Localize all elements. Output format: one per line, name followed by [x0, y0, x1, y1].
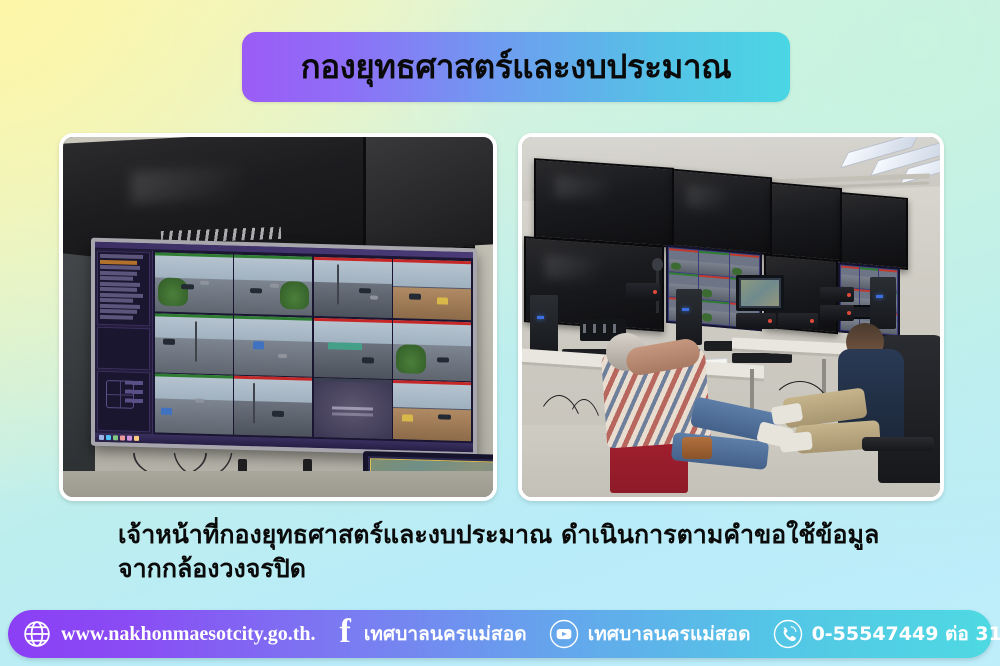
caption-line-2: จากกล้องวงจรปิด: [118, 552, 948, 586]
camera-list-tree: [97, 251, 150, 326]
operator-map-monitor: [736, 275, 784, 311]
youtube-label: เทศบาลนครแม่สอด: [588, 619, 751, 649]
globe-icon: [22, 619, 52, 649]
camera-tile-no-signal: [314, 378, 392, 439]
chair-base: [862, 437, 934, 451]
person-2-shoe: [779, 431, 813, 452]
video-wall-screen: [840, 192, 908, 270]
desktop-pc-tower: [676, 289, 702, 345]
video-wall-screen: [672, 169, 772, 256]
ptz-control-panel: [97, 371, 150, 432]
title-banner: กองยุทธศาสตร์และงบประมาณ: [242, 32, 790, 102]
wall-tv-dark-secondary: [363, 137, 493, 251]
camera-tile: [234, 315, 312, 376]
contact-footer-bar: www.nakhonmaesotcity.go.th. f เทศบาลนครแ…: [8, 610, 992, 658]
youtube-icon: [549, 619, 579, 649]
camera-tile: [155, 373, 233, 434]
facebook-icon: f: [337, 618, 354, 649]
keyboard: [732, 353, 792, 363]
footer-phone[interactable]: 0-55547449 ต่อ 314: [773, 619, 1000, 649]
group-panel: [97, 327, 150, 370]
caption-line-1: เจ้าหน้าที่กองยุทธศาสตร์และงบประมาณ ดำเน…: [118, 518, 948, 552]
video-wall-screen: [534, 158, 674, 248]
facebook-label: เทศบาลนครแม่สอด: [364, 619, 527, 649]
camera-tile: [234, 255, 312, 316]
camera-tile: [314, 317, 392, 378]
photo-cctv-control-room: [59, 133, 497, 501]
camera-tile: [155, 313, 233, 374]
rack-equipment: [820, 305, 854, 321]
camera-tile: [314, 257, 392, 318]
camera-tile: [393, 320, 471, 381]
website-label: www.nakhonmaesotcity.go.th.: [61, 623, 315, 646]
rack-equipment: [736, 313, 776, 329]
camera-tile: [393, 259, 471, 320]
desktop-pc-tower: [530, 295, 558, 357]
camera-tile: [234, 376, 312, 437]
cctv-camera-grid: [153, 250, 473, 443]
camera-tile: [155, 252, 233, 313]
camera-sidebar: [95, 249, 153, 435]
caption-block: เจ้าหน้าที่กองยุทธศาสตร์และงบประมาณ ดำเน…: [118, 518, 948, 586]
rack-equipment: [626, 283, 660, 301]
footer-website[interactable]: www.nakhonmaesotcity.go.th.: [22, 619, 315, 649]
floor: [63, 471, 493, 497]
page-title: กองยุทธศาสตร์และงบประมาณ: [301, 50, 732, 85]
person-1-bag: [682, 437, 712, 459]
photo-gallery: [59, 133, 944, 501]
phone-label: 0-55547449 ต่อ 314: [812, 619, 1000, 649]
camera-tile: [393, 380, 471, 441]
rack-equipment: [820, 287, 854, 302]
footer-youtube[interactable]: เทศบาลนครแม่สอด: [549, 619, 751, 649]
footer-facebook[interactable]: f เทศบาลนครแม่สอด: [337, 618, 526, 649]
small-black-box: [852, 305, 872, 319]
rack-equipment: [778, 313, 818, 329]
desktop-pc-tower: [870, 277, 896, 329]
video-wall-screen: [770, 182, 842, 262]
phone-icon: [773, 619, 803, 649]
photo-staff-video-wall: [518, 133, 944, 501]
main-cctv-monitor: [91, 238, 477, 457]
